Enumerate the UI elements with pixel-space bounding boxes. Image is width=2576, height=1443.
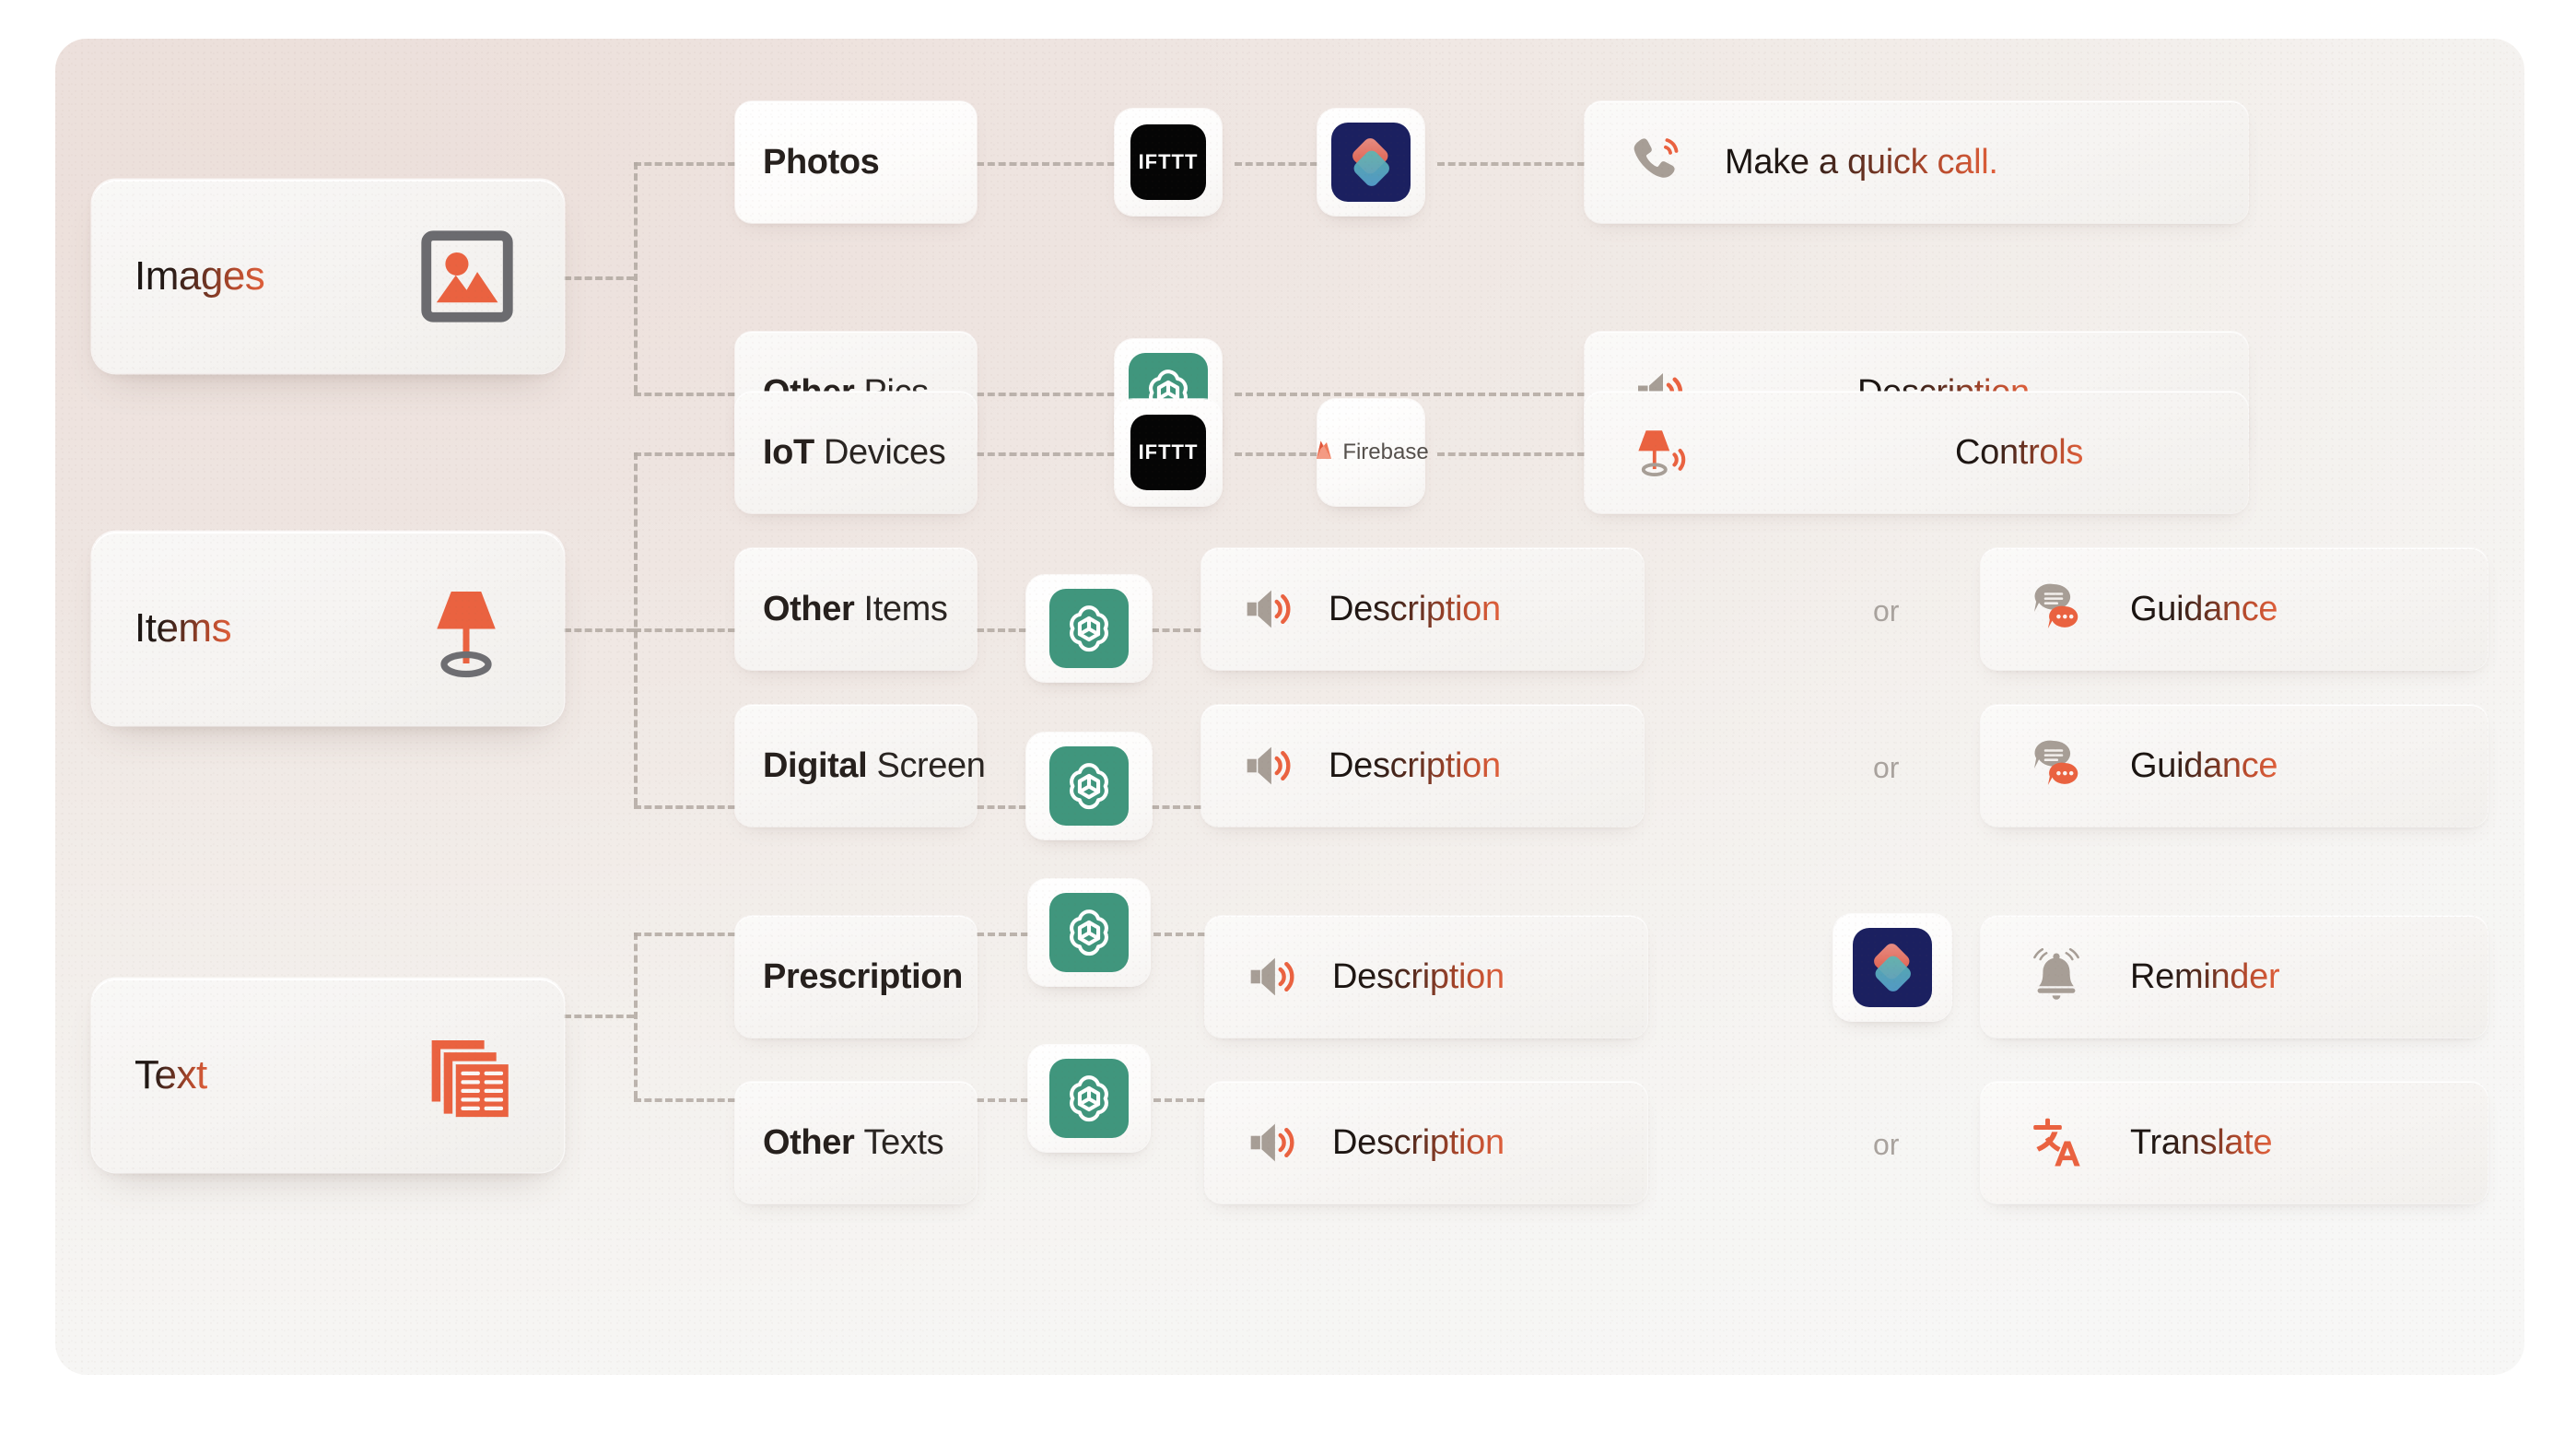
- connector-ifttt-to-firebase: [1235, 452, 1317, 456]
- alt-outcome-label-translate: Translate: [2130, 1123, 2272, 1163]
- app-tile-ifttt-1[interactable]: IFTTT: [1115, 109, 1222, 216]
- outcome-label-description-2: Description: [1329, 590, 1501, 629]
- lamp-signal-icon: [1616, 417, 1708, 487]
- shortcuts-icon: [1853, 928, 1932, 1007]
- outcome-label-description-3: Description: [1329, 746, 1501, 786]
- alt-outcome-card-reminder[interactable]: Reminder: [1981, 916, 2488, 1038]
- connector-otherpics-to-gpt: [977, 393, 1115, 396]
- connector-items-branch-3: [634, 805, 735, 809]
- app-tile-chatgpt-3[interactable]: [1026, 733, 1152, 839]
- root-label-text: Text: [135, 1052, 207, 1098]
- connector-shortcuts-to-call: [1437, 162, 1585, 166]
- or-separator-2: or: [1873, 751, 1899, 785]
- diagram-panel: Images Items Text: [55, 39, 2524, 1375]
- chatgpt-icon: [1049, 1059, 1129, 1138]
- category-label-prescription: Prescription: [763, 957, 963, 997]
- outcome-label-controls: Controls: [1955, 433, 2083, 473]
- connector-gpt-to-description-2: [1152, 628, 1201, 632]
- category-label-other-items: Other Items: [763, 590, 947, 629]
- connector-text-vertical: [634, 933, 638, 1098]
- connector-images-branch-1: [634, 162, 735, 166]
- lamp-icon: [411, 573, 521, 684]
- chatgpt-icon: [1049, 589, 1129, 668]
- outcome-card-description-3[interactable]: Description: [1201, 705, 1644, 827]
- category-card-other-items[interactable]: Other Items: [735, 548, 977, 670]
- or-separator-3: or: [1873, 1128, 1899, 1162]
- bell-icon: [2014, 944, 2099, 1009]
- outcome-card-description-5[interactable]: Description: [1205, 1082, 1647, 1203]
- ifttt-wordmark: IFTTT: [1139, 150, 1199, 174]
- connector-text-branch-2: [634, 1098, 735, 1102]
- connector-images-stub: [564, 276, 634, 280]
- alt-outcome-card-guidance-1[interactable]: Guidance: [1981, 548, 2488, 670]
- speaker-audio-icon: [1229, 733, 1308, 798]
- chat-bubbles-icon: [2014, 733, 2099, 799]
- connector-digital-to-gpt: [977, 805, 1026, 809]
- outcome-label-description-5: Description: [1332, 1123, 1505, 1163]
- ifttt-icon: IFTTT: [1130, 415, 1206, 490]
- app-tile-ifttt-2[interactable]: IFTTT: [1115, 399, 1222, 506]
- app-tile-chatgpt-2[interactable]: [1026, 575, 1152, 682]
- connector-firebase-to-controls: [1437, 452, 1585, 456]
- connector-images-vertical: [634, 162, 638, 393]
- translate-icon: [2014, 1110, 2099, 1175]
- app-tile-shortcuts-1[interactable]: [1317, 109, 1424, 216]
- chat-bubbles-icon: [2014, 576, 2099, 642]
- category-card-digital-screen[interactable]: Digital Screen: [735, 705, 977, 827]
- connector-text-branch-1: [634, 933, 735, 936]
- chatgpt-icon: [1049, 893, 1129, 972]
- phone-call-icon: [1616, 132, 1699, 193]
- speaker-audio-icon: [1233, 944, 1312, 1009]
- documents-stack-icon: [416, 1023, 521, 1128]
- outcome-label-make-a-quick-call: Make a quick call.: [1725, 143, 1998, 182]
- category-label-photos: Photos: [763, 143, 879, 182]
- category-card-prescription[interactable]: Prescription: [735, 916, 977, 1038]
- outcome-card-description-2[interactable]: Description: [1201, 548, 1644, 670]
- outcome-card-description-4[interactable]: Description: [1205, 916, 1647, 1038]
- firebase-icon: Firebase: [1313, 439, 1428, 466]
- connector-prescription-to-gpt: [977, 933, 1028, 936]
- root-card-items[interactable]: Items: [92, 532, 564, 725]
- root-label-items: Items: [135, 605, 231, 651]
- connector-gpt-to-description-4: [1153, 933, 1205, 936]
- connector-items-branch-1: [634, 452, 735, 456]
- category-label-digital-screen: Digital Screen: [763, 746, 986, 786]
- root-card-images[interactable]: Images: [92, 180, 564, 373]
- category-card-photos[interactable]: Photos: [735, 101, 977, 223]
- category-card-iot-devices[interactable]: IoT Devices: [735, 392, 977, 513]
- alt-outcome-label-reminder: Reminder: [2130, 957, 2279, 997]
- image-picture-icon: [413, 222, 521, 331]
- ifttt-icon: IFTTT: [1130, 124, 1206, 200]
- app-tile-chatgpt-5[interactable]: [1028, 1045, 1150, 1152]
- category-label-iot-devices: IoT Devices: [763, 433, 945, 473]
- outcome-card-make-a-quick-call[interactable]: Make a quick call.: [1585, 101, 2248, 223]
- diagram-canvas: Images Items Text: [0, 0, 2576, 1443]
- shortcuts-icon: [1331, 123, 1411, 202]
- connector-gpt-to-description-5: [1153, 1098, 1205, 1102]
- outcome-label-description-4: Description: [1332, 957, 1505, 997]
- speaker-audio-icon: [1233, 1110, 1312, 1175]
- speaker-audio-icon: [1229, 577, 1308, 641]
- connector-ifttt-to-shortcuts: [1235, 162, 1317, 166]
- connector-photos-to-ifttt: [977, 162, 1115, 166]
- category-label-other-texts: Other Texts: [763, 1123, 943, 1163]
- connector-gpt-to-description-3: [1152, 805, 1201, 809]
- firebase-wordmark: Firebase: [1342, 440, 1428, 465]
- alt-outcome-card-translate[interactable]: Translate: [1981, 1082, 2488, 1203]
- alt-outcome-card-guidance-2[interactable]: Guidance: [1981, 705, 2488, 827]
- connector-text-stub: [564, 1015, 634, 1018]
- app-tile-chatgpt-4[interactable]: [1028, 879, 1150, 986]
- outcome-card-controls[interactable]: Controls: [1585, 392, 2248, 513]
- root-card-text[interactable]: Text: [92, 979, 564, 1172]
- connector-otheritems-to-gpt: [977, 628, 1026, 632]
- root-label-images: Images: [135, 253, 264, 299]
- app-tile-firebase[interactable]: Firebase: [1317, 399, 1424, 506]
- connector-images-branch-2: [634, 393, 735, 396]
- or-separator-1: or: [1873, 594, 1899, 628]
- ifttt-wordmark: IFTTT: [1139, 440, 1199, 464]
- connector-items-branch-2: [634, 628, 735, 632]
- connector-gpt-to-description-1: [1235, 393, 1585, 396]
- chatgpt-icon: [1049, 746, 1129, 826]
- alt-outcome-label-guidance-2: Guidance: [2130, 746, 2277, 786]
- connector-items-stub: [564, 628, 634, 632]
- connector-othertexts-to-gpt: [977, 1098, 1028, 1102]
- connector-iot-to-ifttt: [977, 452, 1115, 456]
- alt-outcome-label-guidance-1: Guidance: [2130, 590, 2277, 629]
- category-card-other-texts[interactable]: Other Texts: [735, 1082, 977, 1203]
- app-tile-shortcuts-2[interactable]: [1833, 914, 1951, 1021]
